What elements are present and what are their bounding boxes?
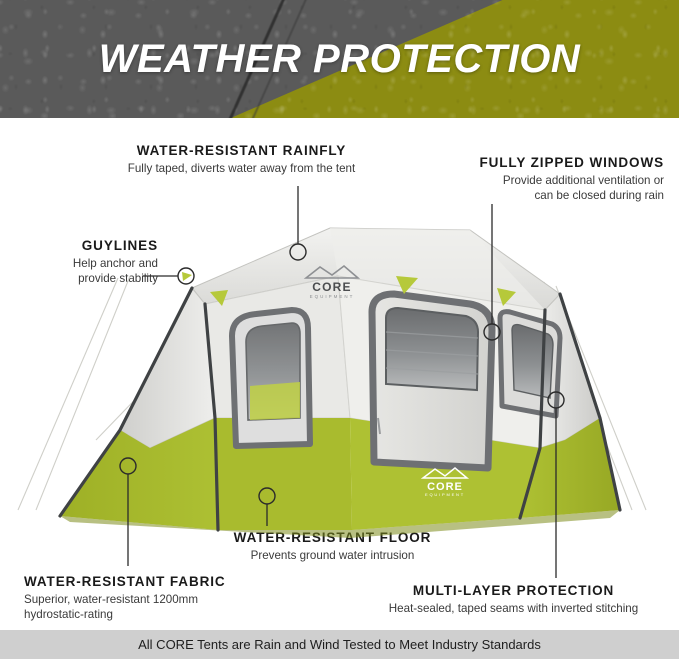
header-banner: WEATHER PROTECTION <box>0 0 679 118</box>
weather-protection-infographic: WEATHER PROTECTION WATER-RESISTANT RAINF… <box>0 0 679 659</box>
footer-text: All CORE Tents are Rain and Wind Tested … <box>138 637 541 652</box>
tent-illustration: CORE EQUIPMENT CORE EQUIPMENT <box>0 118 679 630</box>
door-mesh-window <box>386 308 478 390</box>
footer-bar: All CORE Tents are Rain and Wind Tested … <box>0 630 679 659</box>
core-logo-text: CORE <box>312 280 351 294</box>
banner-title: WEATHER PROTECTION <box>0 0 679 118</box>
right-window-mesh <box>512 325 553 398</box>
tent-left-wall <box>120 288 215 448</box>
interior-green-hint <box>250 382 300 420</box>
guyline-tab-highlight <box>182 272 192 281</box>
core-logo-subtext: EQUIPMENT <box>425 492 465 497</box>
core-logo-subtext: EQUIPMENT <box>310 294 355 299</box>
